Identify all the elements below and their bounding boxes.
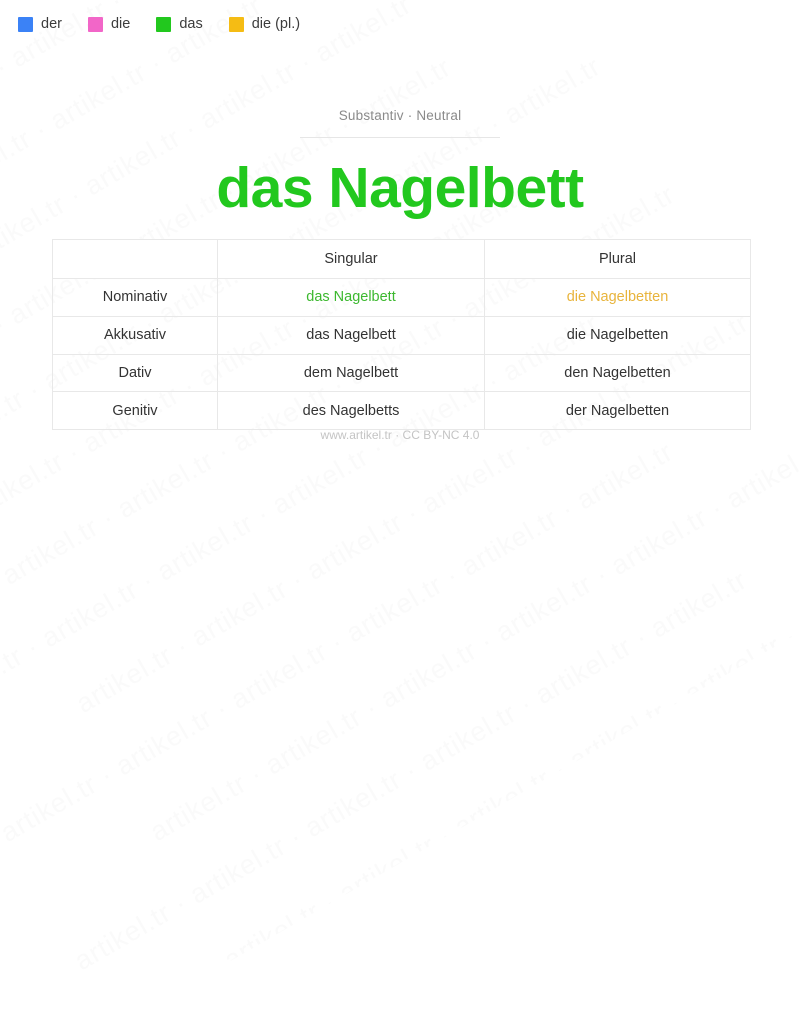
legend-item-label: die (pl.) xyxy=(252,17,300,32)
table-body: Nominativdas Nagelbettdie NagelbettenAkk… xyxy=(53,279,751,430)
legend-item-label: die xyxy=(111,17,130,32)
table-header: Singular Plural xyxy=(53,240,751,279)
headline-block: Substantiv · Neutral das Nagelbett xyxy=(0,108,800,219)
plural-value-cell: der Nagelbetten xyxy=(485,392,751,430)
legend-item-das: das xyxy=(156,17,202,32)
singular-value-cell: das Nagelbett xyxy=(218,316,485,354)
table-row: Nominativdas Nagelbettdie Nagelbetten xyxy=(53,279,751,317)
table-row: Dativdem Nagelbettden Nagelbetten xyxy=(53,354,751,392)
subtitle-divider xyxy=(300,137,500,138)
legend-item-label: das xyxy=(179,17,202,32)
word-category-subtitle: Substantiv · Neutral xyxy=(0,108,800,123)
declension-table: Singular Plural Nominativdas Nagelbettdi… xyxy=(52,239,751,430)
color-swatch-pink-icon xyxy=(88,17,103,32)
color-swatch-amber-icon xyxy=(229,17,244,32)
legend-item-die: die xyxy=(88,17,130,32)
plural-value-cell: den Nagelbetten xyxy=(485,354,751,392)
footer-attribution: www.artikel.tr · CC BY-NC 4.0 xyxy=(0,428,800,442)
case-label-cell: Akkusativ xyxy=(53,316,218,354)
legend-item-label: der xyxy=(41,17,62,32)
case-label-cell: Nominativ xyxy=(53,279,218,317)
table-row: Genitivdes Nagelbettsder Nagelbetten xyxy=(53,392,751,430)
plural-value-cell: die Nagelbetten xyxy=(485,316,751,354)
case-label-cell: Dativ xyxy=(53,354,218,392)
legend-item-der: der xyxy=(18,17,62,32)
plural-value-cell: die Nagelbetten xyxy=(485,279,751,317)
singular-value-cell: des Nagelbetts xyxy=(218,392,485,430)
singular-value-cell: das Nagelbett xyxy=(218,279,485,317)
legend-item-diepl: die (pl.) xyxy=(229,17,300,32)
column-header-plural: Plural xyxy=(485,240,751,279)
column-header-singular: Singular xyxy=(218,240,485,279)
article-color-legend: derdiedasdie (pl.) xyxy=(18,17,300,32)
color-swatch-blue-icon xyxy=(18,17,33,32)
table-row: Akkusativdas Nagelbettdie Nagelbetten xyxy=(53,316,751,354)
singular-value-cell: dem Nagelbett xyxy=(218,354,485,392)
column-header-case xyxy=(53,240,218,279)
case-label-cell: Genitiv xyxy=(53,392,218,430)
color-swatch-green-icon xyxy=(156,17,171,32)
declension-card: derdiedasdie (pl.) Substantiv · Neutral … xyxy=(0,0,800,533)
table-header-row: Singular Plural xyxy=(53,240,751,279)
page-title: das Nagelbett xyxy=(0,159,800,219)
